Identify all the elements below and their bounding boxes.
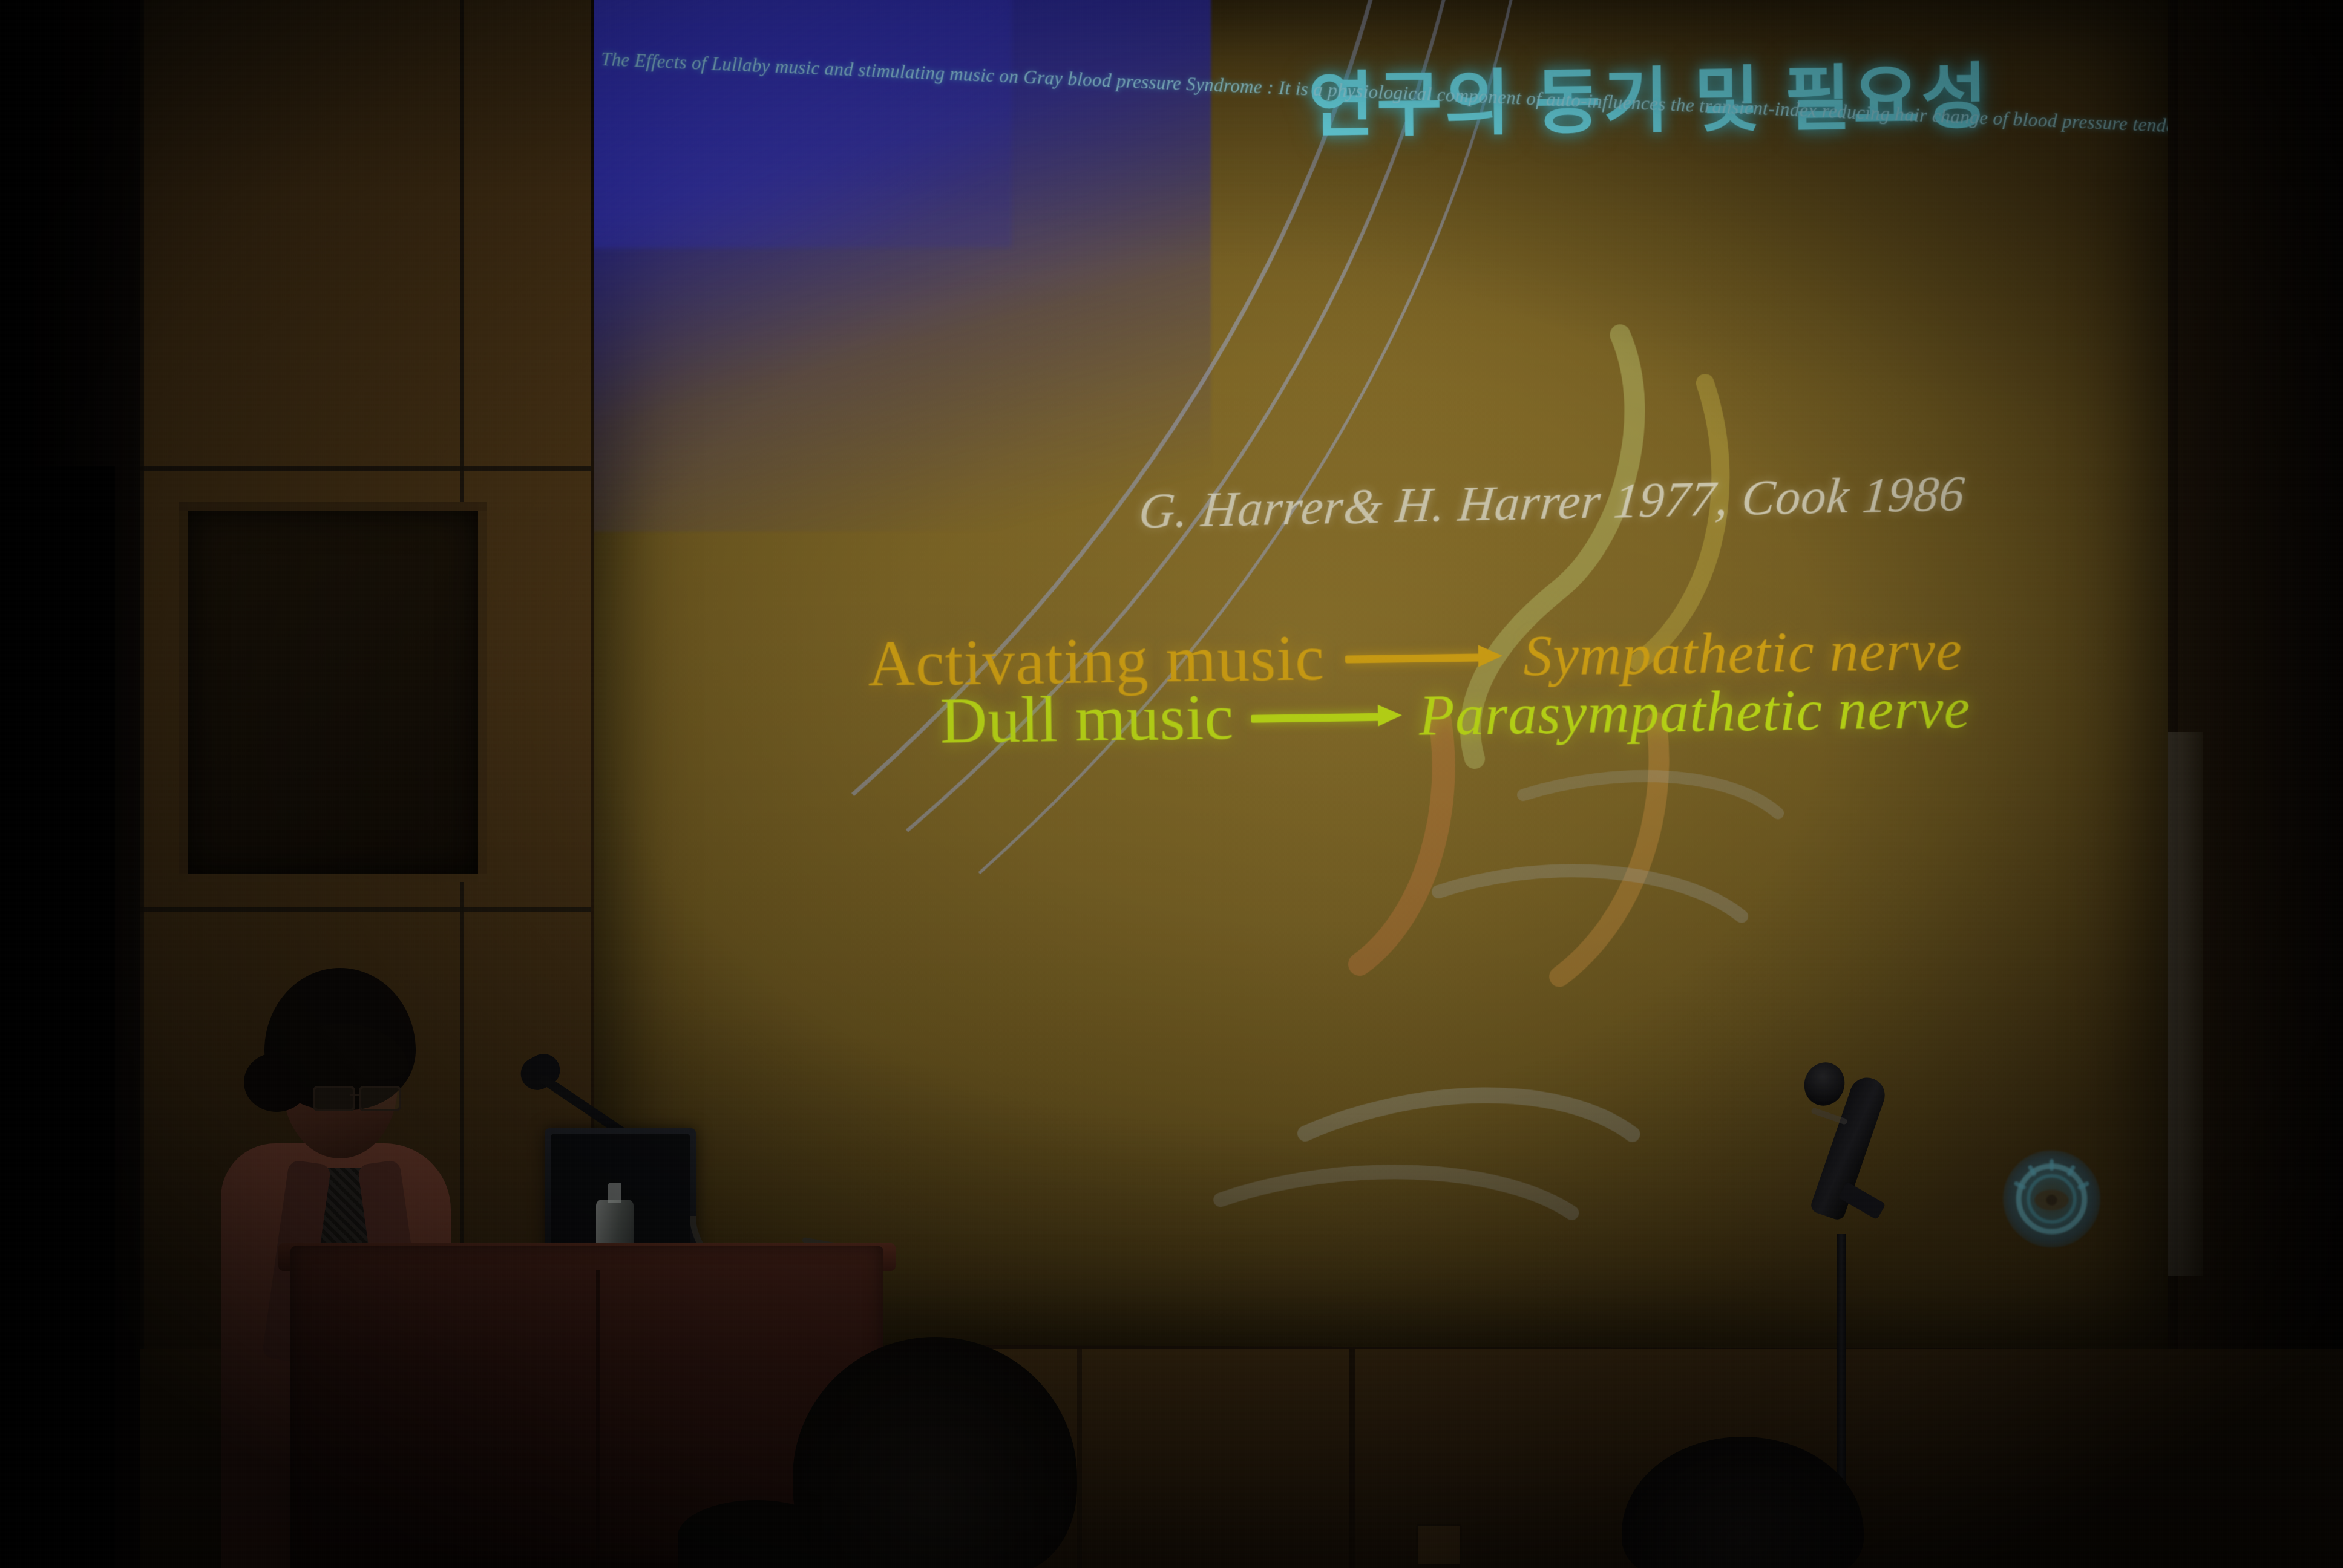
wall-seam xyxy=(1349,1349,1355,1568)
presenter-hair-bun xyxy=(244,1053,309,1112)
dark-recessed-wall-panel xyxy=(179,502,487,882)
slide-row-dull: Dull music Parasympathetic nerve xyxy=(940,670,1971,759)
glasses-icon xyxy=(313,1086,401,1108)
arrow-right-icon xyxy=(1345,649,1502,665)
institution-emblem-icon xyxy=(2003,1150,2100,1247)
microphone-grille-icon xyxy=(1798,1057,1850,1111)
wood-seam xyxy=(140,0,144,1568)
microphone-clip xyxy=(1838,1182,1886,1220)
wall-outlet xyxy=(1416,1524,1462,1566)
arrow-right-icon xyxy=(1251,708,1402,724)
right-wall xyxy=(2178,0,2343,1568)
left-black-column xyxy=(0,466,115,1568)
podium-seam xyxy=(596,1270,600,1568)
presentation-photo: 연구의 동기 및 필요성 The Effects of Lullaby musi… xyxy=(0,0,2343,1568)
wood-seam xyxy=(140,907,591,912)
dull-music-label: Dull music xyxy=(940,680,1234,759)
projection-screen[interactable]: 연구의 동기 및 필요성 The Effects of Lullaby musi… xyxy=(594,0,2168,1349)
wood-seam xyxy=(140,466,591,471)
wall-seam xyxy=(1077,1349,1082,1568)
parasympathetic-nerve-label: Parasympathetic nerve xyxy=(1418,674,1971,749)
